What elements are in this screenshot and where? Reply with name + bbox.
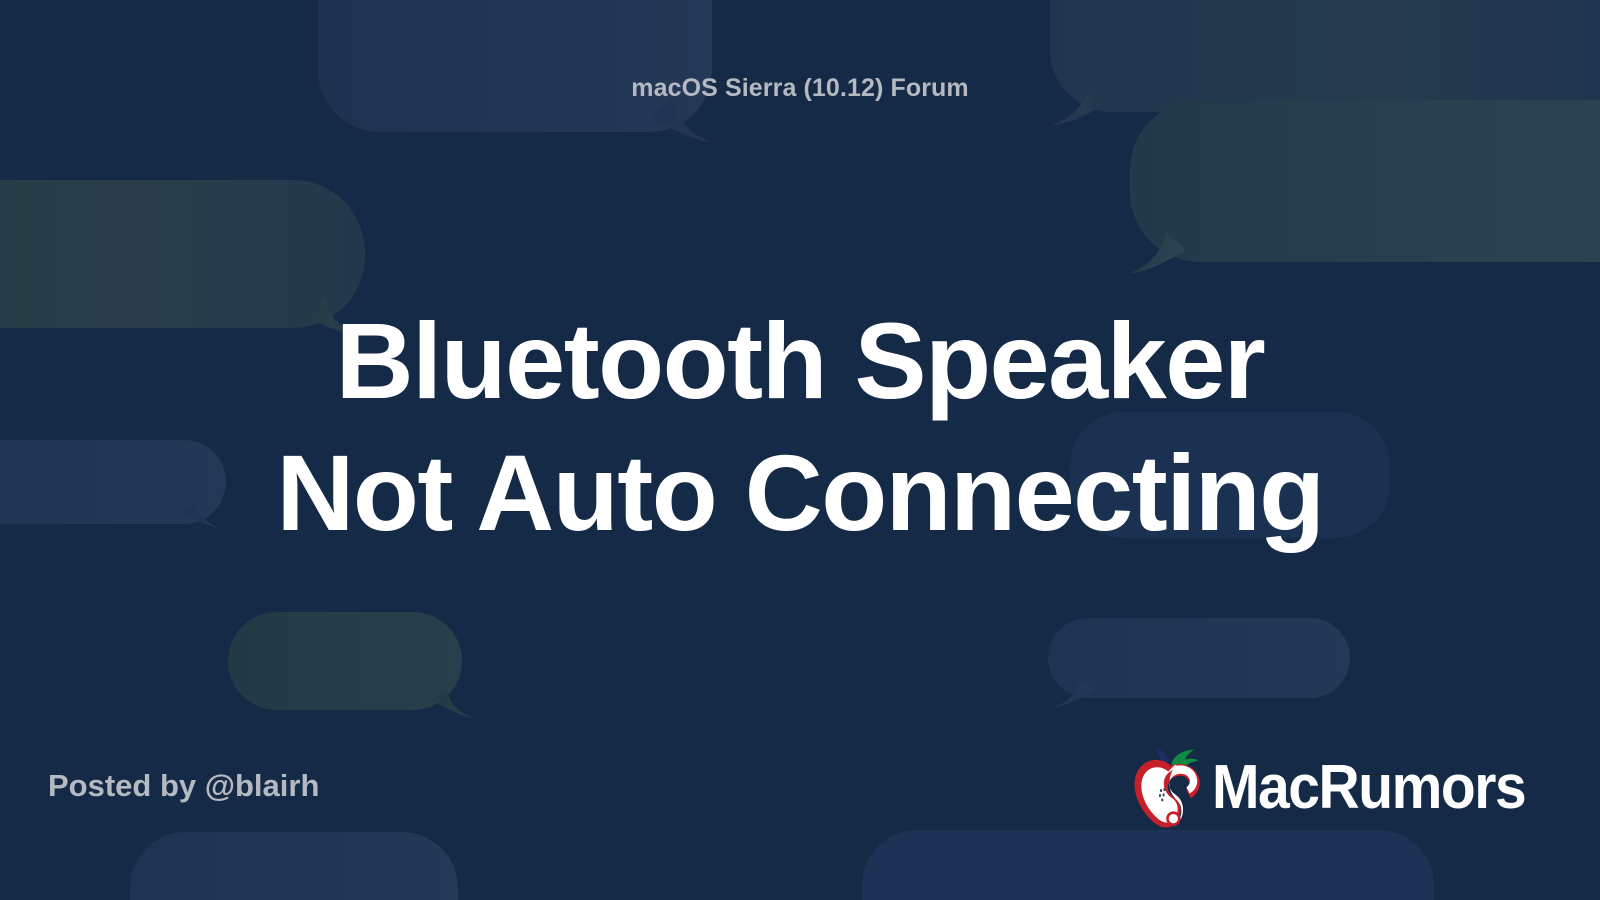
bubble-center-teal [228,612,474,718]
macrumors-apple-question-mark-logo-icon [1132,747,1208,829]
bubble-right-teal-large [1128,100,1600,274]
macrumors-wordmark: MacRumors [1212,757,1525,819]
bubble-center-right [1048,618,1350,708]
title-line-2: Not Auto Connecting [0,427,1600,559]
bubble-bottom-left [130,832,458,900]
posted-by-label: Posted by @blairh [48,768,319,804]
title-line-1: Bluetooth Speaker [0,295,1600,427]
page-title: Bluetooth Speaker Not Auto Connecting [0,295,1600,559]
forum-share-card: macOS Sierra (10.12) Forum Bluetooth Spe… [0,0,1600,900]
macrumors-brand-lockup: MacRumors [1132,740,1552,836]
bubble-bottom-right [862,830,1434,900]
bubble-top-center [318,0,712,142]
bubble-top-right [1050,0,1600,126]
forum-name-eyebrow: macOS Sierra (10.12) Forum [0,74,1600,103]
